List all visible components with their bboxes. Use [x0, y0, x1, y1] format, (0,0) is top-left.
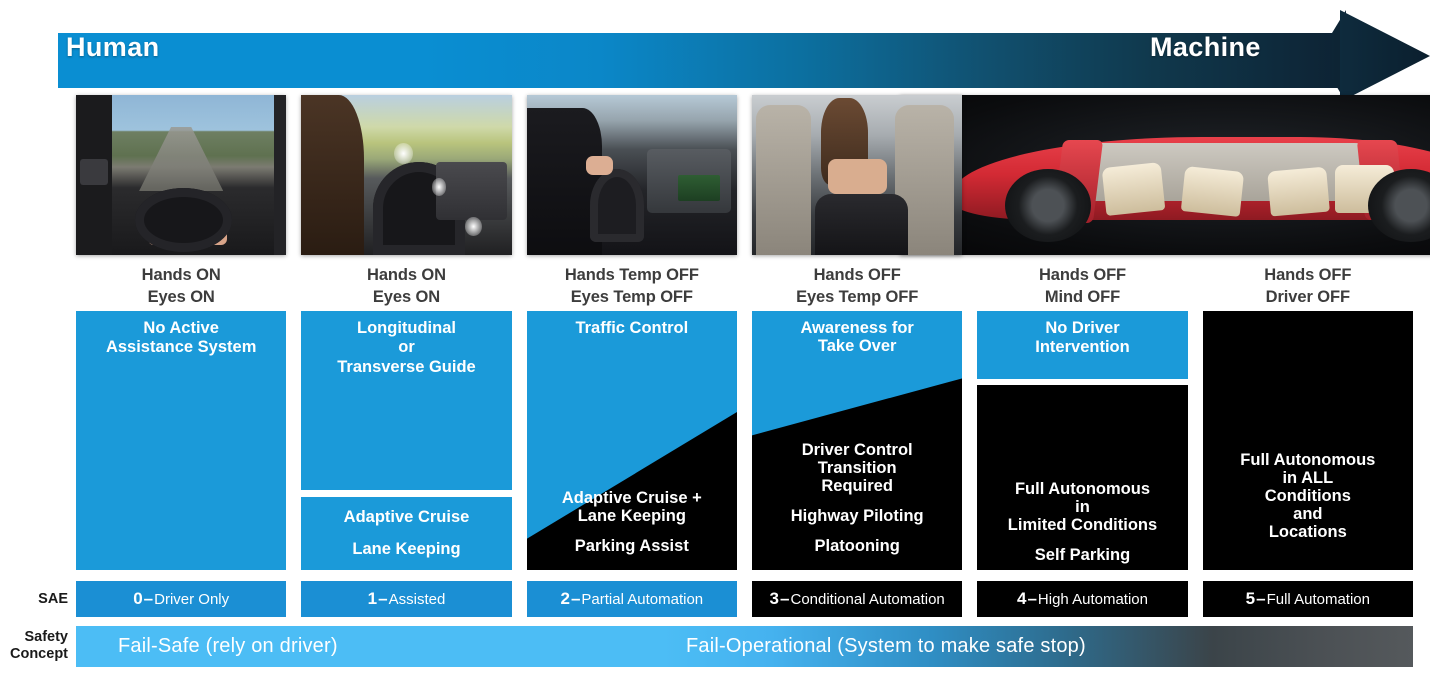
state-line-2: Eyes ON [76, 286, 286, 308]
state-label-level-0: Hands ON Eyes ON [76, 255, 286, 311]
sae-cell-level-3[interactable]: 3–Conditional Automation [752, 581, 962, 617]
feature-item: Self Parking [977, 546, 1187, 565]
feature-item: Lane Keeping [527, 507, 737, 526]
driver-hands-on-wheel-road-photo [76, 95, 286, 255]
state-line-1: Hands OFF [977, 264, 1187, 286]
machine-label: Machine [1150, 32, 1261, 63]
woman-relaxed-in-car-seat-photo [752, 95, 962, 255]
column-level-3: Hands OFF Eyes Temp OFF Awareness for Ta… [752, 95, 962, 570]
state-line-1: Hands Temp OFF [527, 264, 737, 286]
feature-box-level-5: Full Autonomous in ALL Conditions and Lo… [1203, 311, 1413, 570]
sae-cell-level-4[interactable]: 4–High Automation [977, 581, 1187, 617]
sae-levels-row: 0–Driver Only 1–Assisted 2–Partial Autom… [76, 581, 1413, 617]
sae-name: Assisted [389, 591, 446, 608]
state-line-1: Hands ON [301, 264, 511, 286]
state-label-level-1: Hands ON Eyes ON [301, 255, 511, 311]
capability-box-level-1: Longitudinal or Transverse Guide [301, 311, 511, 490]
feature-item: Required [752, 477, 962, 496]
sae-number: 1 [368, 589, 377, 609]
feature-item: Limited Conditions [977, 516, 1187, 535]
capability-title-line-2: Assistance System [76, 338, 286, 357]
capability-title-line-1: No Driver [977, 311, 1187, 338]
sae-dash: – [1026, 589, 1037, 609]
content-level-1: Longitudinal or Transverse Guide Adaptiv… [301, 311, 511, 570]
capability-title-line-1: Awareness for [752, 319, 962, 338]
capability-title-line-1: No Active [76, 311, 286, 338]
feature-item: in [977, 498, 1187, 517]
capability-title-line-1: Traffic Control [527, 319, 737, 338]
feature-item: Adaptive Cruise + [527, 489, 737, 508]
state-line-2: Eyes ON [301, 286, 511, 308]
feature-item: Platooning [752, 537, 962, 556]
column-level-2: Hands Temp OFF Eyes Temp OFF Traffic Con… [527, 95, 737, 570]
feature-item: and [1203, 505, 1413, 524]
feature-item: Locations [1203, 523, 1413, 542]
sae-cell-level-0[interactable]: 0–Driver Only [76, 581, 286, 617]
woman-driving-hud-overlay-photo [301, 95, 511, 255]
sae-dash: – [377, 589, 388, 609]
safety-label-line-1: Safety [0, 629, 68, 646]
feature-box-level-4: Full Autonomous in Limited Conditions Se… [977, 385, 1187, 570]
capability-title-line-2: Intervention [977, 338, 1187, 357]
sae-cell-level-5[interactable]: 5–Full Automation [1203, 581, 1413, 617]
fail-operational-text: Fail-Operational (System to make safe st… [686, 635, 1086, 658]
state-line-2: Eyes Temp OFF [752, 286, 962, 308]
sae-name: Partial Automation [581, 591, 703, 608]
column-level-5: Hands OFF Driver OFF Full Autonomous in … [1203, 95, 1413, 570]
sae-row-label: SAE [0, 591, 68, 608]
capability-box-level-0: No Active Assistance System [76, 311, 286, 570]
sae-cell-level-2[interactable]: 2–Partial Automation [527, 581, 737, 617]
sae-name: Driver Only [154, 591, 229, 608]
safety-concept-row-label: Safety Concept [0, 629, 68, 662]
feature-item: Transition [752, 459, 962, 478]
column-level-1: Hands ON Eyes ON Longitudinal or Transve… [301, 95, 511, 570]
column-level-4: Hands OFF Mind OFF No Driver Interventio… [977, 95, 1187, 570]
state-line-1: Hands OFF [1203, 264, 1413, 286]
sae-number: 0 [133, 589, 142, 609]
capability-title-line-3: Transverse Guide [301, 358, 511, 377]
sae-name: Conditional Automation [790, 591, 944, 608]
content-level-2: Traffic Control Adaptive Cruise + Lane K… [527, 311, 737, 570]
sae-number: 4 [1017, 589, 1026, 609]
safety-concept-bar: Fail-Safe (rely on driver) Fail-Operatio… [76, 626, 1413, 667]
content-level-5: Full Autonomous in ALL Conditions and Lo… [1203, 311, 1413, 570]
feature-item: Full Autonomous [977, 480, 1187, 499]
feature-item: Parking Assist [527, 537, 737, 556]
feature-item: Full Autonomous [1203, 451, 1413, 470]
sae-dash: – [1255, 589, 1266, 609]
feature-item: Adaptive Cruise [301, 508, 511, 527]
column-level-0: Hands ON Eyes ON No Active Assistance Sy… [76, 95, 286, 570]
feature-item: Conditions [1203, 487, 1413, 506]
capability-title-line-2: or [301, 338, 511, 357]
feature-item: Driver Control [752, 441, 962, 460]
sae-name: High Automation [1038, 591, 1148, 608]
feature-item: in ALL [1203, 469, 1413, 488]
feature-item: Lane Keeping [301, 540, 511, 559]
state-line-2: Driver OFF [1203, 286, 1413, 308]
safety-label-line-2: Concept [0, 646, 68, 663]
human-label: Human [66, 32, 160, 63]
content-level-3: Awareness for Take Over Driver Control T… [752, 311, 962, 570]
automation-levels-grid: Hands ON Eyes ON No Active Assistance Sy… [76, 95, 1413, 570]
sae-dash: – [570, 589, 581, 609]
feature-item: Highway Piloting [752, 507, 962, 526]
sae-number: 5 [1246, 589, 1255, 609]
fail-safe-text: Fail-Safe (rely on driver) [118, 635, 338, 658]
man-hands-temp-off-dashboard-photo [527, 95, 737, 255]
sae-number: 2 [560, 589, 569, 609]
sae-dash: – [143, 589, 154, 609]
feature-box-level-1: Adaptive Cruise Lane Keeping [301, 497, 511, 570]
capability-split-level-2: Traffic Control Adaptive Cruise + Lane K… [527, 311, 737, 570]
capability-title-line-1: Longitudinal [301, 311, 511, 338]
content-level-4: No Driver Intervention Full Autonomous i… [977, 311, 1187, 570]
state-line-2: Eyes Temp OFF [527, 286, 737, 308]
state-line-1: Hands OFF [752, 264, 962, 286]
sae-name: Full Automation [1267, 591, 1370, 608]
sae-cell-level-1[interactable]: 1–Assisted [301, 581, 511, 617]
state-label-level-3: Hands OFF Eyes Temp OFF [752, 255, 962, 311]
sae-number: 3 [770, 589, 779, 609]
capability-title-line-2: Take Over [752, 337, 962, 356]
state-label-level-4: Hands OFF Mind OFF [977, 255, 1187, 311]
state-line-1: Hands ON [76, 264, 286, 286]
state-label-level-5: Hands OFF Driver OFF [1203, 255, 1413, 311]
sae-dash: – [779, 589, 790, 609]
capability-split-level-3: Awareness for Take Over Driver Control T… [752, 311, 962, 570]
state-line-2: Mind OFF [977, 286, 1187, 308]
capability-box-level-4: No Driver Intervention [977, 311, 1187, 379]
arrow-head-icon [1340, 10, 1430, 102]
state-label-level-2: Hands Temp OFF Eyes Temp OFF [527, 255, 737, 311]
content-level-0: No Active Assistance System [76, 311, 286, 570]
